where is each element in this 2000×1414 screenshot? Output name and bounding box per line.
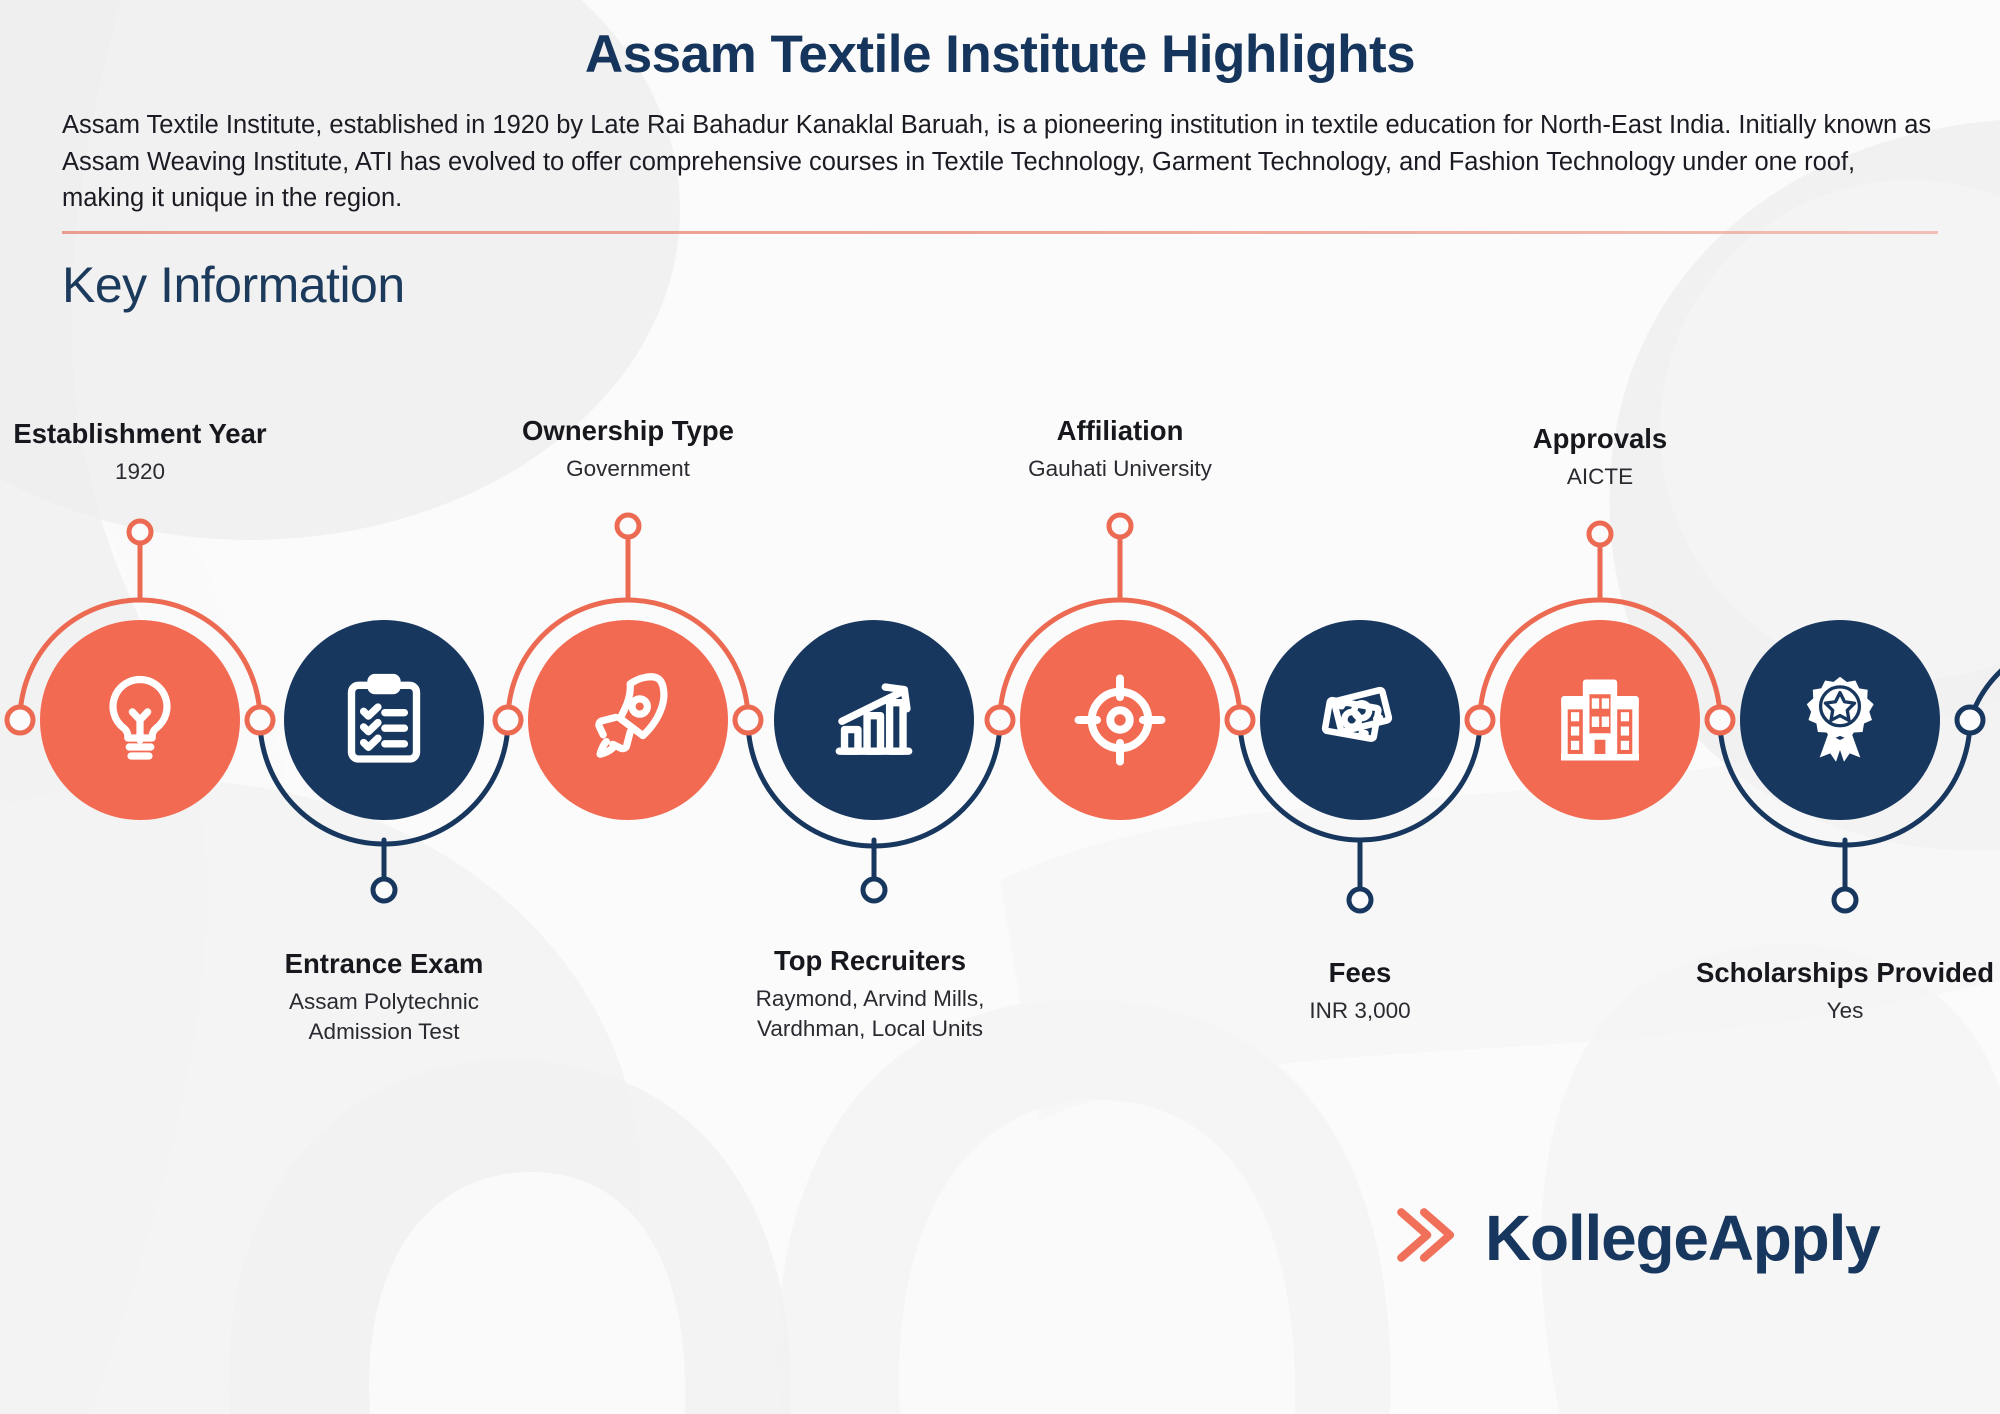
timeline-item-name: Entrance Exam: [219, 948, 549, 980]
header-divider: [62, 231, 1938, 234]
timeline-item-value: Yes: [1680, 996, 2000, 1026]
timeline-item-value: Gauhati University: [955, 454, 1285, 484]
timeline-node-scholarships-provided[interactable]: [1740, 620, 1940, 820]
double-chevron-icon: [1385, 1196, 1463, 1279]
timeline-item-name: Establishment Year: [0, 418, 305, 450]
timeline-item-name: Scholarships Provided: [1680, 957, 2000, 989]
timeline-item-value: 1920: [0, 457, 305, 487]
target-icon: [1067, 667, 1173, 773]
timeline-item-name: Affiliation: [955, 415, 1285, 447]
logo-text: KollegeApply: [1485, 1206, 1880, 1270]
timeline-label-top-recruiters: Top Recruiters Raymond, Arvind Mills, Va…: [705, 945, 1035, 1044]
timeline-item-name: Fees: [1195, 957, 1525, 989]
timeline-item-name: Top Recruiters: [705, 945, 1035, 977]
page-title: Assam Textile Institute Highlights: [0, 0, 2000, 85]
timeline-node-approvals[interactable]: [1500, 620, 1700, 820]
clipboard-checklist-icon: [332, 668, 436, 772]
timeline-label-affiliation: Affiliation Gauhati University: [955, 415, 1285, 484]
timeline-label-ownership-type: Ownership Type Government: [463, 415, 793, 484]
timeline-label-fees: Fees INR 3,000: [1195, 957, 1525, 1026]
timeline-label-establishment-year: Establishment Year 1920: [0, 418, 305, 487]
timeline-item-value: Government: [463, 454, 793, 484]
timeline-node-affiliation[interactable]: [1020, 620, 1220, 820]
section-title: Key Information: [62, 256, 2000, 314]
building-icon: [1548, 668, 1652, 772]
timeline-node-fees[interactable]: [1260, 620, 1460, 820]
timeline-item-name: Approvals: [1435, 423, 1765, 455]
timeline-node-ownership-type[interactable]: [528, 620, 728, 820]
rocket-icon: [574, 666, 682, 774]
timeline-item-value: INR 3,000: [1195, 996, 1525, 1026]
timeline-label-entrance-exam: Entrance Exam Assam Polytechnic Admissio…: [219, 948, 549, 1047]
banknotes-icon: [1308, 668, 1412, 772]
timeline-node-entrance-exam[interactable]: [284, 620, 484, 820]
lightbulb-icon: [86, 666, 194, 774]
timeline-item-name: Ownership Type: [463, 415, 793, 447]
timeline-item-value: Raymond, Arvind Mills, Vardhman, Local U…: [705, 984, 1035, 1045]
timeline-item-value: AICTE: [1435, 462, 1765, 492]
timeline-label-scholarships-provided: Scholarships Provided Yes: [1680, 957, 2000, 1026]
award-badge-icon: [1787, 667, 1893, 773]
intro-paragraph: Assam Textile Institute, established in …: [62, 107, 1940, 217]
timeline-node-top-recruiters[interactable]: [774, 620, 974, 820]
header: Assam Textile Institute Highlights Assam…: [0, 0, 2000, 314]
timeline-node-establishment-year[interactable]: [40, 620, 240, 820]
timeline-item-value: Assam Polytechnic Admission Test: [219, 987, 549, 1048]
kollegeapply-logo[interactable]: KollegeApply: [1385, 1196, 1880, 1279]
growth-chart-icon: [822, 668, 926, 772]
timeline-label-approvals: Approvals AICTE: [1435, 423, 1765, 492]
